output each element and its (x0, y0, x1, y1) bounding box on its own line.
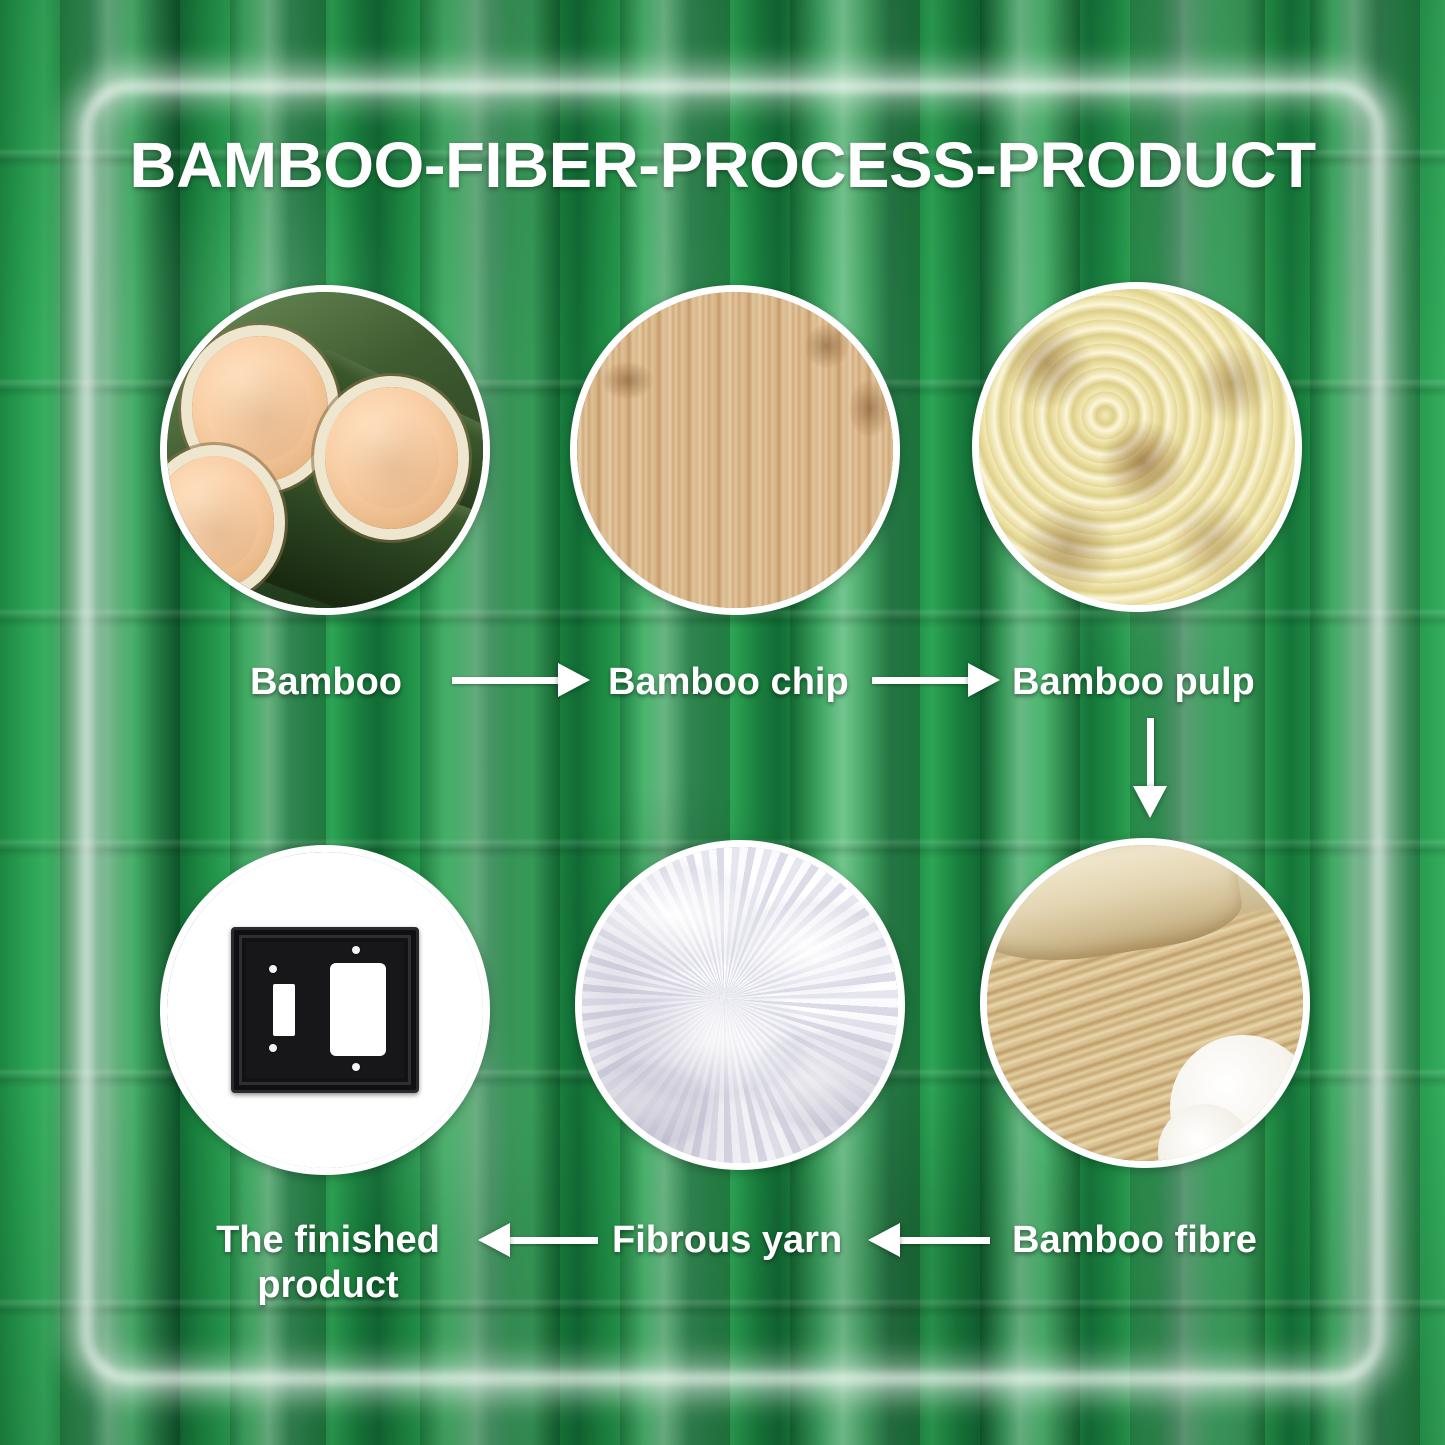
cut-bamboo-culms-photo (167, 292, 483, 608)
screw-hole (269, 1044, 277, 1052)
step-label-bamboo-chip: Bamboo chip (608, 660, 849, 705)
toggle-switch-opening (273, 984, 295, 1036)
arrow-shaft (900, 1237, 990, 1244)
arrow-head-right-icon (968, 663, 1000, 697)
bamboo-culm (980, 838, 1246, 976)
wood-knot (849, 380, 890, 437)
step-image-bamboo-chip (570, 285, 900, 615)
step-label-finished-product: The finished product (208, 1218, 448, 1308)
bamboo-wood-grain-photo (577, 292, 893, 608)
step-image-fibrous-yarn (575, 840, 905, 1170)
arrow-pulp-to-fibre (1133, 718, 1167, 818)
arrow-shaft (1147, 718, 1154, 786)
black-wall-plate-photo (167, 852, 483, 1168)
arrow-chip-to-pulp (872, 665, 1000, 695)
step-label-bamboo-pulp: Bamboo pulp (1012, 660, 1255, 705)
bamboo-cut-end (325, 387, 458, 529)
step-label-fibrous-yarn: Fibrous yarn (612, 1218, 842, 1263)
white-fibrous-yarn-photo (582, 847, 898, 1163)
step-image-bamboo (160, 285, 490, 615)
screw-hole (352, 1063, 360, 1071)
arrow-head-left-icon (868, 1223, 900, 1257)
step-image-bamboo-fibre (980, 838, 1310, 1168)
page-title: BAMBOO-FIBER-PROCESS-PRODUCT (0, 128, 1445, 202)
bamboo-fibre-strands-photo (987, 845, 1303, 1161)
step-label-bamboo-fibre: Bamboo fibre (1012, 1218, 1257, 1263)
arrow-head-down-icon (1133, 786, 1167, 818)
arrow-shaft (452, 677, 558, 684)
screw-hole (269, 965, 277, 973)
arrow-shaft (510, 1237, 598, 1244)
arrow-shaft (872, 677, 968, 684)
arrow-bamboo-to-chip (452, 665, 590, 695)
step-image-bamboo-pulp (972, 282, 1302, 612)
yarn-shading (582, 847, 898, 1163)
arrow-fibre-to-yarn (868, 1225, 990, 1255)
wood-knot (805, 324, 849, 368)
bamboo-pulp-photo (979, 289, 1295, 605)
wall-plate (231, 927, 419, 1093)
rocker-switch-opening (330, 963, 386, 1056)
arrow-head-right-icon (558, 663, 590, 697)
infographic-poster: BAMBOO-FIBER-PROCESS-PRODUCT Bamboo Bamb… (0, 0, 1445, 1445)
step-image-finished-product (160, 845, 490, 1175)
screw-hole (352, 946, 360, 954)
arrow-yarn-to-product (478, 1225, 598, 1255)
wood-knot (602, 362, 653, 400)
arrow-head-left-icon (478, 1223, 510, 1257)
step-label-bamboo: Bamboo (250, 660, 402, 705)
